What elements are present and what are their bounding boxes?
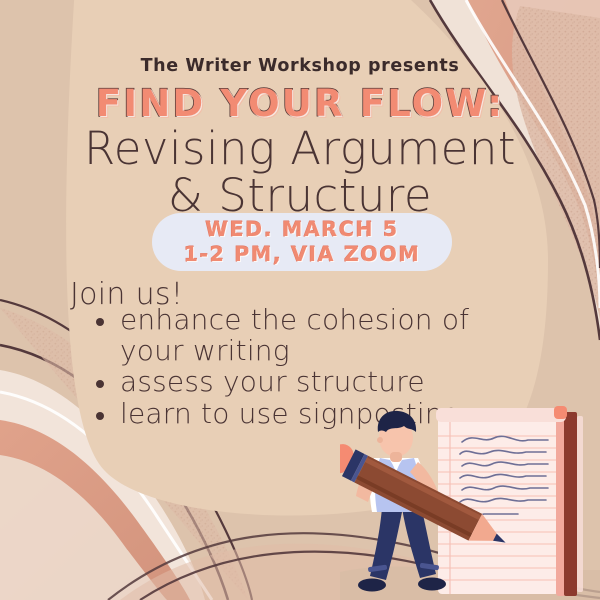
title-line-2: & Structure: [0, 172, 600, 219]
badge-date-line: WED. MARCH 5: [205, 217, 398, 242]
title-line-1: Revising Argument: [84, 122, 516, 175]
person-neck: [390, 452, 402, 462]
page-title: Revising Argument & Structure: [0, 125, 600, 219]
headline: FIND YOUR FLOW:: [0, 82, 600, 125]
ruled-notepad: [436, 406, 583, 596]
notepad-clip-tab: [554, 406, 567, 419]
poster-canvas: The Writer Workshop presents FIND YOUR F…: [0, 0, 600, 600]
list-item: assess your structure: [90, 367, 520, 398]
notepad-top-clip: [436, 408, 566, 422]
person-writing-illustration: [340, 400, 600, 600]
organization-line: The Writer Workshop presents: [0, 56, 600, 76]
notepad-binding-dark: [564, 412, 577, 596]
list-item: enhance the cohesion of your writing: [90, 305, 520, 366]
badge-time-line: 1-2 PM, VIA ZOOM: [184, 242, 421, 267]
person-shoe-front: [418, 578, 446, 591]
event-datetime-badge: WED. MARCH 5 1-2 PM, VIA ZOOM: [152, 213, 452, 271]
person-shoe-back: [358, 579, 386, 592]
